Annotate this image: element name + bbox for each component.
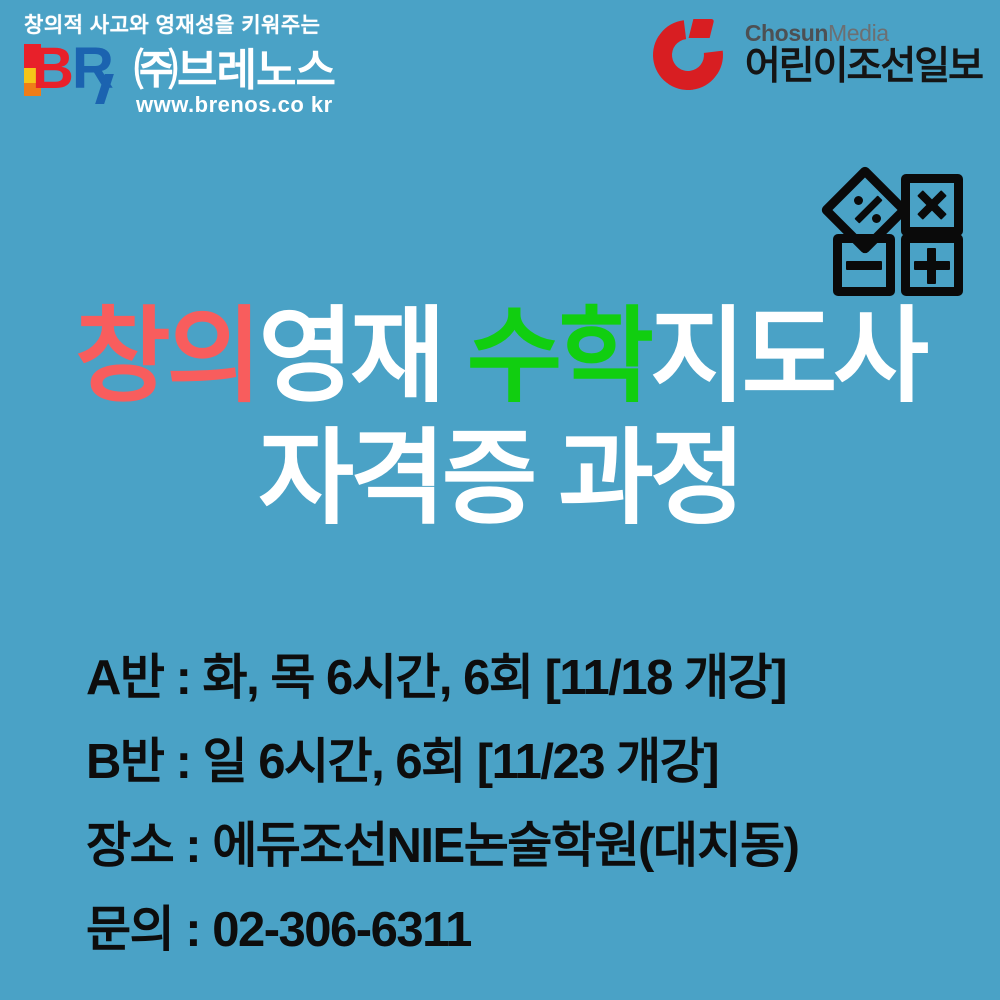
headline-segment-jidosa: 지도사 bbox=[650, 299, 925, 415]
headline-block: 창의영재 수학지도사 자격증 과정 bbox=[0, 296, 1000, 540]
chosun-c-mark-icon bbox=[653, 20, 731, 88]
divide-dot-bottom-icon bbox=[872, 214, 881, 223]
promo-poster: 창의적 사고와 영재성을 키워주는 B R ㈜브레노스 www.brenos.c… bbox=[0, 0, 1000, 1000]
brenos-logo: 창의적 사고와 영재성을 키워주는 B R ㈜브레노스 www.brenos.c… bbox=[24, 14, 404, 118]
plus-stroke-v-icon bbox=[927, 248, 936, 284]
chosun-korean-name: 어린이조선일보 bbox=[745, 46, 982, 88]
headline-line-2: 자격증 과정 bbox=[0, 418, 1000, 540]
headline-segment-youngjae: 영재 bbox=[258, 299, 466, 415]
divide-dot-top-icon bbox=[854, 196, 863, 205]
br-monogram-icon: B R bbox=[24, 42, 136, 96]
brenos-company-name: ㈜브레노스 bbox=[134, 46, 335, 96]
chosun-tail-shape bbox=[688, 19, 714, 38]
detail-class-a: A반 : 화, 목 6시간, 6회 [11/18 개강] bbox=[86, 636, 966, 720]
brenos-website-url: www.brenos.co kr bbox=[136, 92, 404, 118]
chosun-english-secondary: Media bbox=[828, 20, 889, 46]
br-letter-b: B bbox=[32, 42, 71, 96]
math-symbols-icon bbox=[832, 172, 962, 294]
chosun-english-name: ChosunMedia bbox=[745, 21, 982, 46]
headline-segment-suhak: 수학 bbox=[467, 299, 650, 415]
chosun-media-logo: ChosunMedia 어린이조선일보 bbox=[653, 20, 982, 88]
chosun-english-primary: Chosun bbox=[745, 20, 828, 46]
headline-line-1: 창의영재 수학지도사 bbox=[0, 296, 1000, 418]
brenos-mark-row: B R ㈜브레노스 bbox=[24, 40, 404, 96]
chosun-text-block: ChosunMedia 어린이조선일보 bbox=[745, 21, 982, 88]
detail-class-b: B반 : 일 6시간, 6회 [11/23 개강] bbox=[86, 720, 966, 804]
detail-contact-phone: 문의 : 02-306-6311 bbox=[86, 888, 966, 972]
minus-stroke-icon bbox=[846, 261, 882, 270]
chosun-ring-shape bbox=[639, 6, 737, 104]
details-block: A반 : 화, 목 6시간, 6회 [11/18 개강] B반 : 일 6시간,… bbox=[86, 636, 966, 972]
headline-segment-changui: 창의 bbox=[75, 299, 258, 415]
detail-location: 장소 : 에듀조선NIE논술학원(대치동) bbox=[86, 804, 966, 888]
brenos-tagline: 창의적 사고와 영재성을 키워주는 bbox=[24, 14, 404, 37]
